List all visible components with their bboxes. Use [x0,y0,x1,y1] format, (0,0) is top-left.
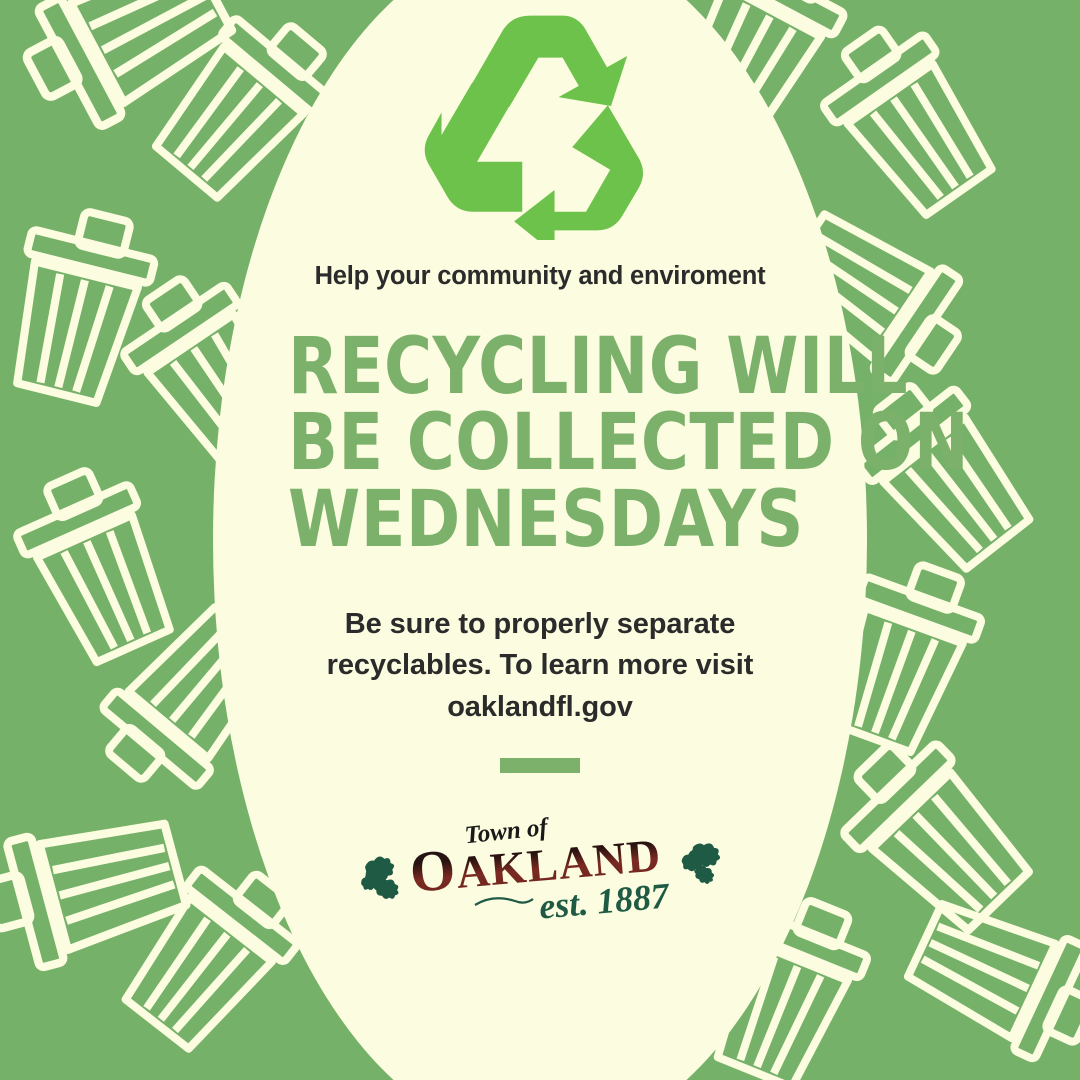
body-line-1: Be sure to properly separate [305,604,775,645]
oak-leaf-sprig-right [678,840,722,887]
recycling-symbol-icon [417,14,663,240]
poster-content: Help your community and enviroment RECYC… [213,0,867,1080]
headline-line-2: BE COLLECTED ON [288,405,792,481]
tagline-text: Help your community and enviroment [315,262,766,291]
oak-leaf-sprig-left [358,853,402,902]
body-line-2: recyclables. To learn more visit [305,645,775,686]
town-of-oakland-logo: Town of OAKLAND est. 1887 [355,809,725,924]
body-copy: Be sure to properly separate recyclables… [305,604,775,728]
divider-bar [500,758,580,773]
logo-flourish [475,898,533,905]
headline: RECYCLING WILL BE COLLECTED ON WEDNESDAY… [288,329,792,558]
headline-line-1: RECYCLING WILL [288,329,792,405]
recycling-announcement-poster: Help your community and enviroment RECYC… [0,0,1080,1080]
body-line-3[interactable]: oaklandfl.gov [305,687,775,728]
headline-line-3: WEDNESDAYS [288,482,792,558]
